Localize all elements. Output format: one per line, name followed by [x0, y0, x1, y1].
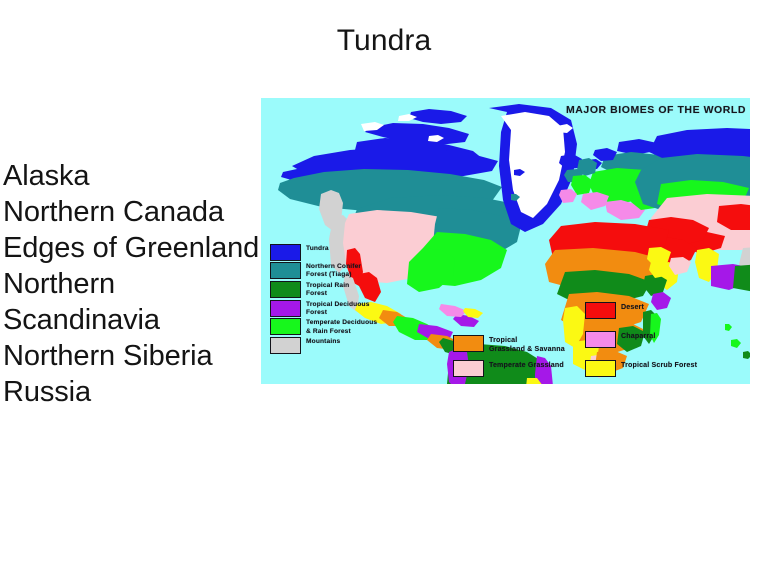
legend-item-temperate-deciduous-rain-forest: Temperate Deciduous & Rain Forest — [270, 318, 377, 336]
body-line: Northern Canada — [3, 194, 261, 230]
legend-swatch-tropical-rain-forest — [270, 281, 301, 298]
legend-swatch-chaparral — [585, 331, 616, 348]
legend-item-tropical-deciduous-forest: Tropical Deciduous Forest — [270, 300, 377, 318]
body-line: Northern Siberia — [3, 338, 261, 374]
legend-swatch-tropical-grassland-savanna — [453, 335, 484, 352]
legend-swatch-tundra — [270, 244, 301, 261]
legend-item-tundra: Tundra — [270, 244, 377, 261]
legend-swatch-mountains — [270, 337, 301, 354]
legend-label-tropical-grassland-savanna: Tropical Grassland & Savanna — [489, 335, 565, 354]
legend-label-temperate-deciduous-rain-forest: Temperate Deciduous & Rain Forest — [306, 318, 377, 336]
legend-swatch-tropical-deciduous-forest — [270, 300, 301, 317]
legend-label-tropical-rain-forest: Tropical Rain Forest — [306, 281, 349, 299]
legend-item-northern-conifer-forest: Northern Conifer Forest (Tiaga) — [270, 262, 377, 280]
legend-swatch-temperate-grassland — [453, 360, 484, 377]
map-legend-left: Tundra Northern Conifer Forest (Tiaga) T… — [270, 244, 377, 355]
body-line: Edges of Greenland — [3, 230, 261, 266]
legend-item-chaparral: Chaparral — [585, 331, 697, 348]
legend-item-desert: Desert — [585, 302, 697, 319]
body-line: Northern Scandinavia — [3, 266, 261, 338]
legend-swatch-northern-conifer-forest — [270, 262, 301, 279]
legend-label-tundra: Tundra — [306, 244, 329, 253]
legend-label-desert: Desert — [621, 302, 644, 312]
body-line: Russia — [3, 374, 261, 410]
slide-body-text: Alaska Northern Canada Edges of Greenlan… — [3, 158, 261, 410]
legend-swatch-desert — [585, 302, 616, 319]
legend-label-tropical-scrub-forest: Tropical Scrub Forest — [621, 360, 697, 370]
map-heading: MAJOR BIOMES OF THE WORLD — [566, 104, 746, 116]
legend-item-tropical-scrub-forest: Tropical Scrub Forest — [585, 360, 697, 377]
legend-item-tropical-rain-forest: Tropical Rain Forest — [270, 281, 377, 299]
legend-label-mountains: Mountains — [306, 337, 340, 346]
legend-swatch-temperate-deciduous-rain-forest — [270, 318, 301, 335]
legend-label-chaparral: Chaparral — [621, 331, 655, 341]
page-title: Tundra — [0, 23, 768, 59]
legend-item-temperate-grassland: Temperate Grassland — [453, 360, 565, 377]
body-line: Alaska — [3, 158, 261, 194]
legend-swatch-tropical-scrub-forest — [585, 360, 616, 377]
map-legend-right: Desert Chaparral Tropical Scrub Forest — [585, 302, 697, 384]
legend-label-temperate-grassland: Temperate Grassland — [489, 360, 564, 370]
legend-item-mountains: Mountains — [270, 337, 377, 354]
legend-label-northern-conifer-forest: Northern Conifer Forest (Tiaga) — [306, 262, 361, 280]
map-legend-middle: Tropical Grassland & Savanna Temperate G… — [453, 335, 565, 383]
world-biomes-map: MAJOR BIOMES OF THE WORLD Tundra Norther… — [261, 98, 750, 384]
legend-label-tropical-deciduous-forest: Tropical Deciduous Forest — [306, 300, 370, 318]
legend-item-tropical-grassland-savanna: Tropical Grassland & Savanna — [453, 335, 565, 354]
